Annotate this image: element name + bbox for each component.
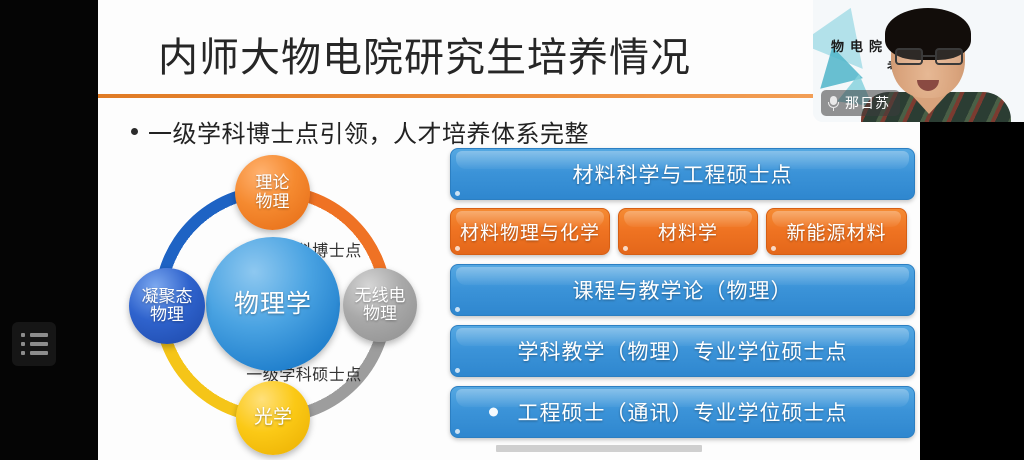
program-box-materials-science-master: 材料科学与工程硕士点 xyxy=(450,148,915,200)
participant-video-tile[interactable]: ᗪ 物电院 科生 考 那日苏 xyxy=(813,0,1024,122)
participant-name-chip: 那日苏 xyxy=(821,90,900,116)
menu-bullet xyxy=(21,333,25,337)
diagram-node-center-label: 物理学 xyxy=(234,291,312,318)
program-box-list: 材料科学与工程硕士点 材料物理与化学 材料学 新能源材料 课程与教学论（物理） … xyxy=(450,148,915,438)
diagram-label-master: 一级学科硕士点 xyxy=(124,361,484,385)
diagram-node-optics: 光学 xyxy=(236,381,310,455)
menu-line xyxy=(30,342,48,346)
program-box-materials-physics-chemistry: 材料物理与化学 xyxy=(450,208,610,255)
microphone-icon xyxy=(828,96,839,111)
diagram-node-center: 物理学 xyxy=(206,237,340,371)
program-box-materials-science: 材料学 xyxy=(618,208,758,255)
participant-name: 那日苏 xyxy=(845,93,890,113)
program-box-label: 工程硕士（通讯）专业学位硕士点 xyxy=(518,397,848,427)
node-label-line1: 理论 xyxy=(256,174,290,192)
slide-title: 内师大物电院研究生培养情况 xyxy=(158,33,691,83)
list-menu-icon[interactable] xyxy=(12,322,56,366)
diagram-node-theoretical-physics: 理论 物理 xyxy=(235,155,310,230)
menu-bullet xyxy=(21,351,25,355)
screen: 内师大物电院研究生培养情况 一级学科博士点引领，人才培养体系完整 一级学科博士点… xyxy=(0,0,1024,460)
diagram-node-radio-physics: 无线电 物理 xyxy=(343,268,417,342)
program-box-subject-teaching-physics-master: 学科教学（物理）专业学位硕士点 xyxy=(450,325,915,377)
presentation-slide: 内师大物电院研究生培养情况 一级学科博士点引领，人才培养体系完整 一级学科博士点… xyxy=(98,0,920,460)
node-label-line2: 物理 xyxy=(256,193,290,211)
program-box-curriculum-pedagogy-physics: 课程与教学论（物理） xyxy=(450,264,915,316)
glasses-lens xyxy=(895,48,923,65)
left-rail xyxy=(0,0,98,460)
bullet-dot-icon xyxy=(489,408,498,417)
menu-line xyxy=(30,333,48,337)
node-label-line1: 光学 xyxy=(254,408,292,429)
program-box-new-energy-materials: 新能源材料 xyxy=(766,208,907,255)
node-label-line2: 物理 xyxy=(150,306,184,324)
node-label-line2: 物理 xyxy=(363,305,397,323)
program-box-engineering-master-communication: 工程硕士（通讯）专业学位硕士点 xyxy=(450,386,915,438)
participant-glasses xyxy=(895,48,963,65)
glasses-lens xyxy=(935,48,963,65)
mic-stem xyxy=(833,108,835,111)
node-label-line1: 凝聚态 xyxy=(142,288,193,306)
program-box-row-materials-subfields: 材料物理与化学 材料学 新能源材料 xyxy=(450,208,915,255)
node-label-line1: 无线电 xyxy=(355,287,406,305)
diagram-node-condensed-matter-physics: 凝聚态 物理 xyxy=(129,268,205,344)
bullet-text: 一级学科博士点引领，人才培养体系完整 xyxy=(148,114,589,149)
menu-bullet xyxy=(21,342,25,346)
menu-line xyxy=(30,351,48,355)
title-divider xyxy=(98,94,920,98)
glasses-bridge xyxy=(923,55,935,57)
bullet-point: 一级学科博士点引领，人才培养体系完整 xyxy=(131,114,589,149)
physics-discipline-diagram: 一级学科博士点 一级学科硕士点 物理学 理论 物理 凝聚态 物理 无线电 物理 … xyxy=(116,155,476,460)
bullet-dot-icon xyxy=(131,128,138,135)
slide-footer-bar xyxy=(496,445,702,452)
